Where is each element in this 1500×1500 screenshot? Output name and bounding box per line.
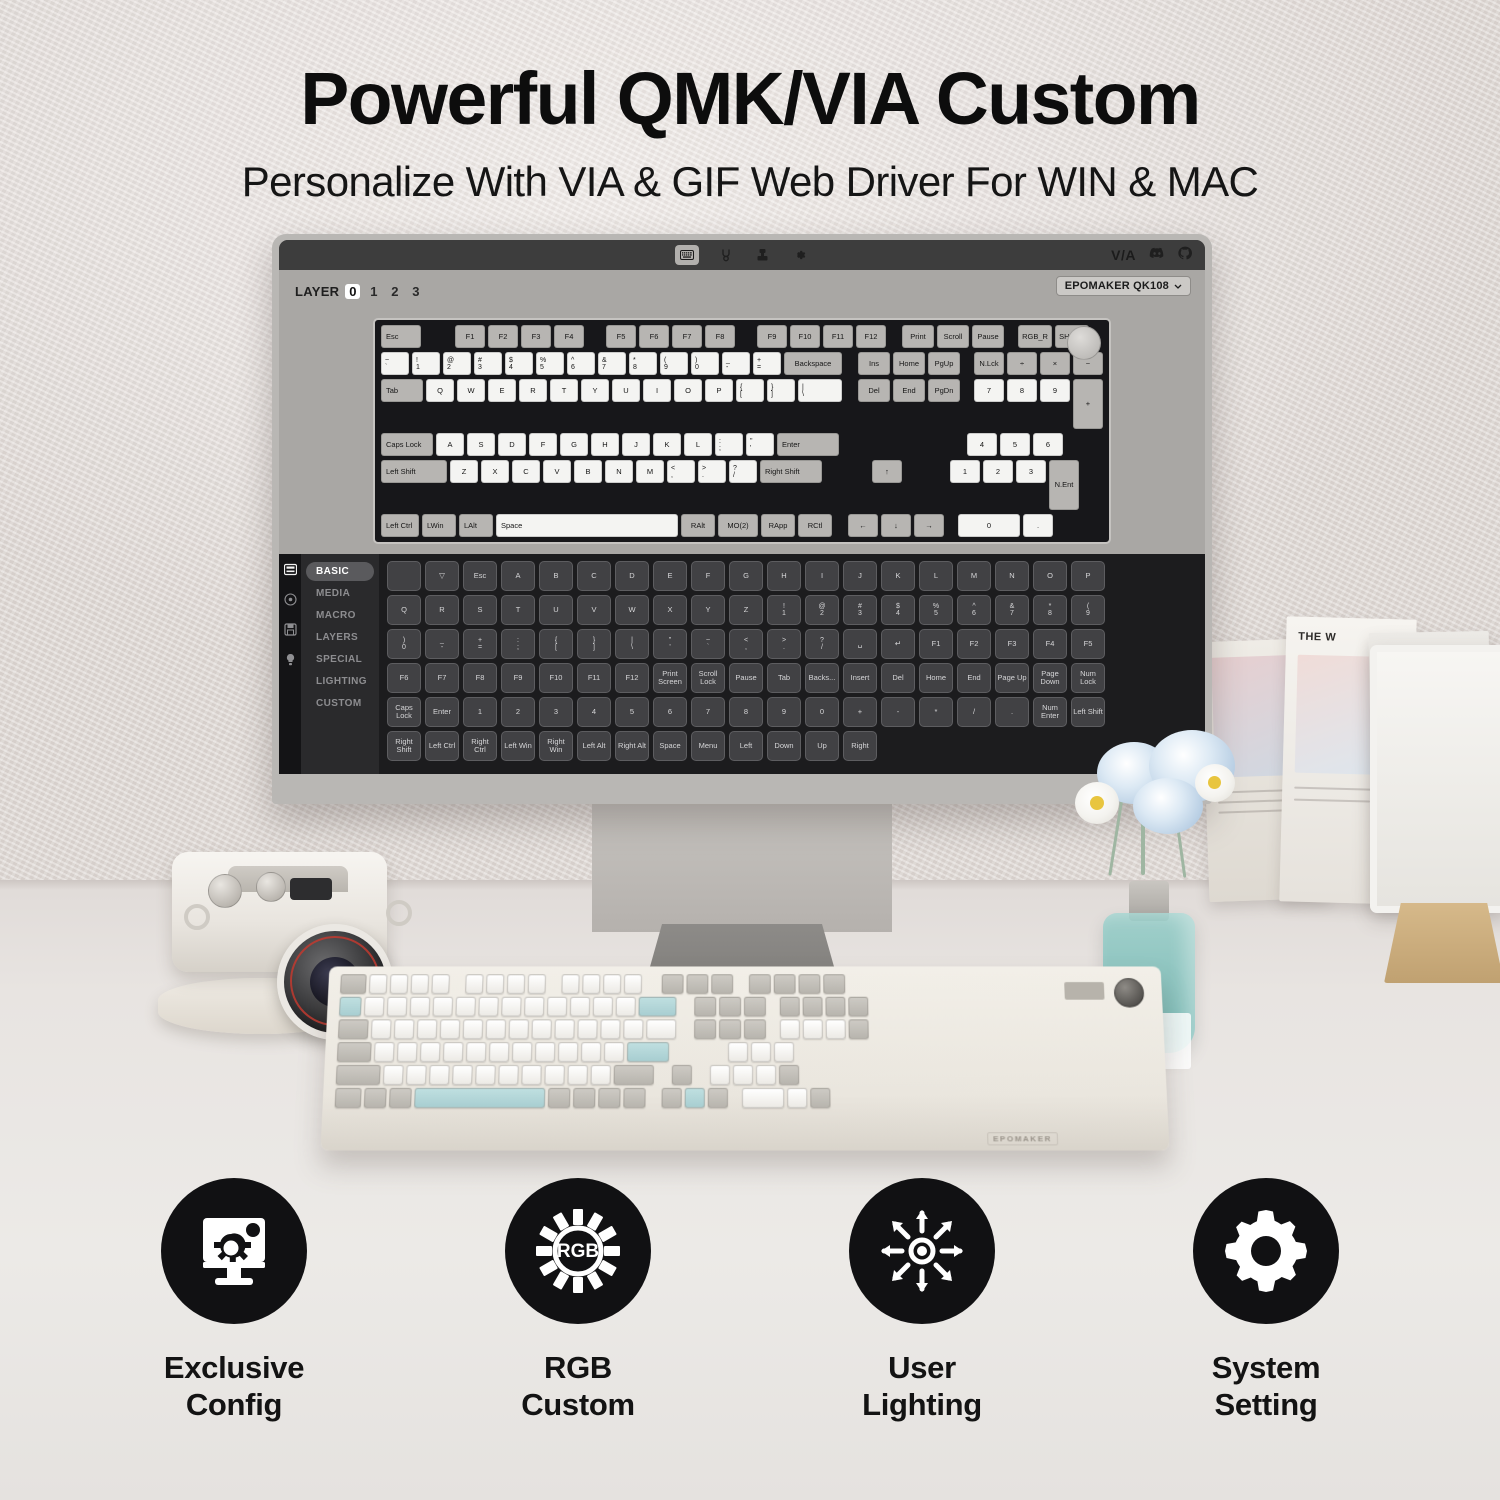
layer-chip-2[interactable]: 2 [387, 284, 402, 299]
keycap-1[interactable]: 1 [950, 460, 980, 483]
keycap-a[interactable]: A [436, 433, 464, 456]
picker-key-i[interactable]: I [805, 561, 839, 591]
keycap-2[interactable]: @2 [443, 352, 471, 375]
keycap-space[interactable]: Space [496, 514, 678, 537]
keycap-f3[interactable]: F3 [521, 325, 551, 348]
picker-key-up[interactable]: Up [805, 731, 839, 761]
keycap-n-lck[interactable]: N.Lck [974, 352, 1004, 375]
physical-keycap[interactable] [567, 1065, 587, 1085]
physical-keycap[interactable] [614, 1065, 654, 1085]
picker-key-space[interactable]: Space [653, 731, 687, 761]
picker-key-num-lock[interactable]: Num Lock [1071, 663, 1105, 693]
keycap-p[interactable]: P [705, 379, 733, 402]
physical-keycap[interactable] [414, 1088, 545, 1108]
keycap-esc[interactable]: Esc [381, 325, 421, 348]
picker-key-.[interactable]: >. [767, 629, 801, 659]
picker-key-j[interactable]: J [843, 561, 877, 591]
physical-keycap[interactable] [558, 1042, 578, 1062]
keycap-9[interactable]: 9 [1040, 379, 1070, 402]
picker-key-f1[interactable]: F1 [919, 629, 953, 659]
keycap-w[interactable]: W [457, 379, 485, 402]
keycap-6[interactable]: 6 [1033, 433, 1063, 456]
physical-keycap[interactable] [825, 997, 845, 1017]
physical-keycap[interactable] [397, 1042, 418, 1062]
physical-keycap[interactable] [466, 1042, 487, 1062]
picker-key-,[interactable]: <, [729, 629, 763, 659]
layer-chip-0[interactable]: 0 [345, 284, 360, 299]
physical-keycap[interactable] [507, 974, 525, 994]
physical-keycap[interactable] [394, 1019, 415, 1039]
physical-keycap[interactable] [694, 1019, 716, 1039]
keycap-][interactable]: }] [767, 379, 795, 402]
picker-key-9[interactable]: 9 [767, 697, 801, 727]
physical-keycap[interactable] [582, 974, 600, 994]
keycap-.[interactable]: >. [698, 460, 726, 483]
physical-keycap[interactable] [798, 974, 820, 994]
physical-keycap[interactable] [335, 1088, 362, 1108]
physical-keycap[interactable] [364, 997, 385, 1017]
picker-key-f11[interactable]: F11 [577, 663, 611, 693]
keycap-[interactable]: ↓ [881, 514, 911, 537]
picker-key-scroll-lock[interactable]: Scroll Lock [691, 663, 725, 693]
keycap-i[interactable]: I [643, 379, 671, 402]
physical-keycap[interactable] [463, 1019, 484, 1039]
physical-keycap[interactable] [577, 1019, 597, 1039]
physical-keycap[interactable] [708, 1088, 728, 1108]
picker-key-3[interactable]: #3 [843, 595, 877, 625]
picker-key-home[interactable]: Home [919, 663, 953, 693]
picker-key-9[interactable]: (9 [1071, 595, 1105, 625]
keycap-f11[interactable]: F11 [823, 325, 853, 348]
keycap-f7[interactable]: F7 [672, 325, 702, 348]
keycap-q[interactable]: Q [426, 379, 454, 402]
keycap-4[interactable]: 4 [967, 433, 997, 456]
picker-key-`[interactable]: ~` [691, 629, 725, 659]
physical-keycap[interactable] [475, 1065, 496, 1085]
picker-key-'[interactable]: "' [653, 629, 687, 659]
picker-key-f8[interactable]: F8 [463, 663, 497, 693]
keycap-f1[interactable]: F1 [455, 325, 485, 348]
physical-keycap[interactable] [486, 974, 504, 994]
keycap-rgb-r[interactable]: RGB_R [1018, 325, 1052, 348]
layer-chip-1[interactable]: 1 [366, 284, 381, 299]
lighting-icon[interactable] [753, 246, 773, 264]
physical-keycap[interactable] [433, 997, 454, 1017]
physical-keycap[interactable] [369, 974, 388, 994]
bulb-icon[interactable] [284, 653, 297, 666]
keycap-0[interactable]: 0 [958, 514, 1020, 537]
picker-key-page-down[interactable]: Page Down [1033, 663, 1067, 693]
keycap-5[interactable]: %5 [536, 352, 564, 375]
picker-key--[interactable]: _- [425, 629, 459, 659]
picker-key-blank[interactable]: . [995, 697, 1029, 727]
picker-key-3[interactable]: 3 [539, 697, 573, 727]
physical-keycap[interactable] [685, 1088, 705, 1108]
physical-keycap[interactable] [489, 1042, 510, 1062]
physical-keycap[interactable] [544, 1065, 564, 1085]
physical-keycap[interactable] [336, 1065, 381, 1085]
keycap-g[interactable]: G [560, 433, 588, 456]
picker-key-left-ctrl[interactable]: Left Ctrl [425, 731, 459, 761]
picker-key-4[interactable]: $4 [881, 595, 915, 625]
keycap-h[interactable]: H [591, 433, 619, 456]
keycap-end[interactable]: End [893, 379, 925, 402]
picker-key-right-shift[interactable]: Right Shift [387, 731, 421, 761]
picker-key-w[interactable]: W [615, 595, 649, 625]
physical-keycap[interactable] [498, 1065, 519, 1085]
sidebar-item-lighting[interactable]: LIGHTING [306, 672, 374, 691]
picker-key-=[interactable]: += [463, 629, 497, 659]
picker-key-y[interactable]: Y [691, 595, 725, 625]
physical-keycap[interactable] [742, 1088, 784, 1108]
picker-key-enter[interactable]: Enter [425, 697, 459, 727]
keycap-3[interactable]: #3 [474, 352, 502, 375]
settings-icon[interactable] [790, 246, 810, 264]
physical-keycap[interactable] [787, 1088, 807, 1108]
picker-key-blank[interactable]: * [919, 697, 953, 727]
keycap-'[interactable]: "' [746, 433, 774, 456]
keycap-t[interactable]: T [550, 379, 578, 402]
picker-key-down[interactable]: Down [767, 731, 801, 761]
picker-key-esc[interactable]: Esc [463, 561, 497, 591]
keycap-4[interactable]: $4 [505, 352, 533, 375]
physical-keycap[interactable] [338, 1019, 369, 1039]
keycap-backspace[interactable]: Backspace [784, 352, 842, 375]
keycap-v[interactable]: V [543, 460, 571, 483]
physical-keycap[interactable] [604, 1042, 624, 1062]
physical-keycap[interactable] [429, 1065, 450, 1085]
picker-key-f[interactable]: F [691, 561, 725, 591]
keycap-;[interactable]: :; [715, 433, 743, 456]
keycap-c[interactable]: C [512, 460, 540, 483]
picker-key-t[interactable]: T [501, 595, 535, 625]
keycap-f8[interactable]: F8 [705, 325, 735, 348]
picker-key-del[interactable]: Del [881, 663, 915, 693]
keycap-u[interactable]: U [612, 379, 640, 402]
picker-key-u[interactable]: U [539, 595, 573, 625]
physical-keycap[interactable] [486, 1019, 507, 1039]
physical-keycap[interactable] [646, 1019, 676, 1039]
picker-key-v[interactable]: V [577, 595, 611, 625]
picker-key-][interactable]: }] [577, 629, 611, 659]
picker-key-blank[interactable]: - [881, 697, 915, 727]
picker-key-right-alt[interactable]: Right Alt [615, 731, 649, 761]
keycap-del[interactable]: Del [858, 379, 890, 402]
github-icon[interactable] [1178, 246, 1192, 265]
keycap-left-shift[interactable]: Left Shift [381, 460, 447, 483]
physical-keycap[interactable] [337, 1042, 372, 1062]
picker-key-blank[interactable]: ▽ [425, 561, 459, 591]
physical-keycap[interactable] [600, 1019, 620, 1039]
picker-key-insert[interactable]: Insert [843, 663, 877, 693]
picker-key-/[interactable]: ?/ [805, 629, 839, 659]
picker-key-left[interactable]: Left [729, 731, 763, 761]
keycap-m[interactable]: M [636, 460, 664, 483]
physical-keycap[interactable] [420, 1042, 441, 1062]
physical-keycap[interactable] [672, 1065, 692, 1085]
physical-keycap[interactable] [623, 1019, 643, 1039]
picker-key-blank[interactable]: / [957, 697, 991, 727]
physical-keycap[interactable] [624, 974, 642, 994]
keycap--[interactable]: _- [722, 352, 750, 375]
picker-key-1[interactable]: 1 [463, 697, 497, 727]
physical-keycap[interactable] [774, 1042, 794, 1062]
picker-key-blank[interactable] [387, 561, 421, 591]
physical-keycap[interactable] [531, 1019, 551, 1039]
keycap-ins[interactable]: Ins [858, 352, 890, 375]
keycap-[interactable]: ← [848, 514, 878, 537]
keycap-d[interactable]: D [498, 433, 526, 456]
physical-keycap[interactable] [524, 997, 544, 1017]
physical-keycap[interactable] [455, 997, 476, 1017]
keycap-o[interactable]: O [674, 379, 702, 402]
picker-key-f4[interactable]: F4 [1033, 629, 1067, 659]
picker-key-backs[interactable]: Backs... [805, 663, 839, 693]
physical-keycap[interactable] [387, 997, 408, 1017]
picker-key-blank[interactable]: + [843, 697, 877, 727]
picker-key-f6[interactable]: F6 [387, 663, 421, 693]
sidebar-item-custom[interactable]: CUSTOM [306, 694, 374, 713]
physical-keycap[interactable] [417, 1019, 438, 1039]
picker-key-5[interactable]: 5 [615, 697, 649, 727]
keycap-f[interactable]: F [529, 433, 557, 456]
picker-key-right[interactable]: Right [843, 731, 877, 761]
keycap-=[interactable]: += [753, 352, 781, 375]
picker-key-right-win[interactable]: Right Win [539, 731, 573, 761]
physical-keycap[interactable] [744, 1019, 766, 1039]
keycap-caps-lock[interactable]: Caps Lock [381, 433, 433, 456]
physical-keycap[interactable] [535, 1042, 555, 1062]
picker-key-left-win[interactable]: Left Win [501, 731, 535, 761]
keycap-[interactable]: + [1073, 379, 1103, 429]
picker-key-page-up[interactable]: Page Up [995, 663, 1029, 693]
physical-keycap[interactable] [616, 997, 636, 1017]
keycap-[interactable]: ↑ [872, 460, 902, 483]
keycap-x[interactable]: X [481, 460, 509, 483]
picker-key-f2[interactable]: F2 [957, 629, 991, 659]
keycap-b[interactable]: B [574, 460, 602, 483]
layer-chip-3[interactable]: 3 [408, 284, 423, 299]
keycap-\[interactable]: |\ [798, 379, 842, 402]
picker-key-8[interactable]: *8 [1033, 595, 1067, 625]
picker-key-8[interactable]: 8 [729, 697, 763, 727]
picker-key-5[interactable]: %5 [919, 595, 953, 625]
physical-keycap[interactable] [719, 997, 741, 1017]
keycap-f6[interactable]: F6 [639, 325, 669, 348]
keycap-3[interactable]: 3 [1016, 460, 1046, 483]
physical-keycap[interactable] [662, 974, 684, 994]
physical-keycap[interactable] [478, 997, 498, 1017]
keycap-tab[interactable]: Tab [381, 379, 423, 402]
save-icon[interactable] [284, 623, 297, 636]
physical-keycap[interactable] [364, 1088, 387, 1108]
keycap-scroll[interactable]: Scroll [937, 325, 969, 348]
picker-key-f7[interactable]: F7 [425, 663, 459, 693]
physical-keycap[interactable] [779, 1065, 799, 1085]
physical-keycap[interactable] [744, 997, 766, 1017]
picker-key-end[interactable]: End [957, 663, 991, 693]
physical-keycap[interactable] [623, 1088, 645, 1108]
physical-keycap[interactable] [694, 997, 716, 1017]
layer-selector[interactable]: LAYER 0 1 2 3 [295, 284, 423, 299]
physical-keycap[interactable] [751, 1042, 771, 1062]
physical-keycap[interactable] [389, 1088, 412, 1108]
picker-key-6[interactable]: ^6 [957, 595, 991, 625]
keycap-9[interactable]: (9 [660, 352, 688, 375]
rotary-knob[interactable] [1067, 326, 1101, 360]
physical-keycap[interactable] [780, 1019, 800, 1039]
physical-keycap[interactable] [512, 1042, 533, 1062]
keycap-[interactable]: → [914, 514, 944, 537]
picker-key-\[interactable]: |\ [615, 629, 649, 659]
keycap-rctl[interactable]: RCtl [798, 514, 832, 537]
keycap-f12[interactable]: F12 [856, 325, 886, 348]
keyboard-icon[interactable] [284, 563, 297, 576]
picker-key-k[interactable]: K [881, 561, 915, 591]
keycap-pgdn[interactable]: PgDn [928, 379, 960, 402]
keycap-y[interactable]: Y [581, 379, 609, 402]
keycap-f9[interactable]: F9 [757, 325, 787, 348]
physical-keycap[interactable] [390, 974, 409, 994]
physical-keycap[interactable] [440, 1019, 461, 1039]
physical-keycap[interactable] [501, 997, 521, 1017]
sidebar-item-special[interactable]: SPECIAL [306, 650, 374, 669]
physical-keycap[interactable] [431, 974, 450, 994]
physical-keycap[interactable] [443, 1042, 464, 1062]
picker-key-pause[interactable]: Pause [729, 663, 763, 693]
keycap-k[interactable]: K [653, 433, 681, 456]
physical-keycap[interactable] [823, 974, 845, 994]
physical-keycap[interactable] [591, 1065, 611, 1085]
keycap-2[interactable]: 2 [983, 460, 1013, 483]
physical-keycap[interactable] [528, 974, 546, 994]
physical-keycap[interactable] [756, 1065, 776, 1085]
keycap-`[interactable]: ~` [381, 352, 409, 375]
physical-keycap[interactable] [554, 1019, 574, 1039]
keycap-left-ctrl[interactable]: Left Ctrl [381, 514, 419, 537]
physical-keycap[interactable] [521, 1065, 542, 1085]
physical-keycap[interactable] [749, 974, 771, 994]
picker-key-o[interactable]: O [1033, 561, 1067, 591]
physical-keycap[interactable] [719, 1019, 741, 1039]
physical-keycap[interactable] [780, 997, 800, 1017]
keycap-8[interactable]: 8 [1007, 379, 1037, 402]
picker-key-c[interactable]: C [577, 561, 611, 591]
physical-keycap[interactable] [826, 1019, 846, 1039]
keycap-home[interactable]: Home [893, 352, 925, 375]
keycap-lwin[interactable]: LWin [422, 514, 456, 537]
picker-key-d[interactable]: D [615, 561, 649, 591]
picker-key-s[interactable]: S [463, 595, 497, 625]
keycap-enter[interactable]: Enter [777, 433, 839, 456]
debug-icon[interactable] [716, 246, 736, 264]
physical-keycap[interactable] [340, 974, 367, 994]
picker-key-q[interactable]: Q [387, 595, 421, 625]
picker-key-2[interactable]: 2 [501, 697, 535, 727]
physical-keycap[interactable] [728, 1042, 748, 1062]
keycap-7[interactable]: &7 [598, 352, 626, 375]
physical-keycap[interactable] [810, 1088, 830, 1108]
picker-key-h[interactable]: H [767, 561, 801, 591]
picker-key-0[interactable]: )0 [387, 629, 421, 659]
physical-keycap[interactable] [849, 1019, 869, 1039]
picker-key-7[interactable]: &7 [995, 595, 1029, 625]
keycap-j[interactable]: J [622, 433, 650, 456]
picker-key-x[interactable]: X [653, 595, 687, 625]
keycap-f4[interactable]: F4 [554, 325, 584, 348]
picker-key-4[interactable]: 4 [577, 697, 611, 727]
keycap-l[interactable]: L [684, 433, 712, 456]
physical-keycap[interactable] [410, 997, 431, 1017]
physical-keycap[interactable] [733, 1065, 753, 1085]
picker-key-m[interactable]: M [957, 561, 991, 591]
physical-keycap[interactable] [465, 974, 483, 994]
picker-key-1[interactable]: !1 [767, 595, 801, 625]
keycap-r[interactable]: R [519, 379, 547, 402]
keycap-f10[interactable]: F10 [790, 325, 820, 348]
keycap-[interactable]: . [1023, 514, 1053, 537]
picker-key-p[interactable]: P [1071, 561, 1105, 591]
physical-keycap[interactable] [662, 1088, 682, 1108]
picker-key-caps-lock[interactable]: Caps Lock [387, 697, 421, 727]
keycap-f2[interactable]: F2 [488, 325, 518, 348]
keycap-z[interactable]: Z [450, 460, 478, 483]
keycap-s[interactable]: S [467, 433, 495, 456]
picker-key-2[interactable]: @2 [805, 595, 839, 625]
keycap-[[interactable]: {[ [736, 379, 764, 402]
picker-key-b[interactable]: B [539, 561, 573, 591]
sidebar-item-macro[interactable]: MACRO [306, 606, 374, 625]
picker-key-z[interactable]: Z [729, 595, 763, 625]
physical-keycap[interactable] [803, 1019, 823, 1039]
picker-key-blank[interactable]: ␣ [843, 629, 877, 659]
picker-key-f5[interactable]: F5 [1071, 629, 1105, 659]
physical-keycap[interactable] [627, 1042, 669, 1062]
sidebar-item-layers[interactable]: LAYERS [306, 628, 374, 647]
physical-keycap[interactable] [547, 997, 567, 1017]
keycap-n-ent[interactable]: N.Ent [1049, 460, 1079, 510]
keycap-mo-2[interactable]: MO(2) [718, 514, 758, 537]
picker-key-6[interactable]: 6 [653, 697, 687, 727]
picker-key-7[interactable]: 7 [691, 697, 725, 727]
physical-keycap[interactable] [803, 997, 823, 1017]
picker-key-g[interactable]: G [729, 561, 763, 591]
physical-keycap[interactable] [686, 974, 708, 994]
keycap-[interactable]: × [1040, 352, 1070, 375]
keycap-right-shift[interactable]: Right Shift [760, 460, 822, 483]
keycap-e[interactable]: E [488, 379, 516, 402]
sidebar-item-basic[interactable]: BASIC [306, 562, 374, 581]
keycap-0[interactable]: )0 [691, 352, 719, 375]
keycap-8[interactable]: *8 [629, 352, 657, 375]
keycap-ralt[interactable]: RAlt [681, 514, 715, 537]
picker-key-l[interactable]: L [919, 561, 953, 591]
physical-keycap[interactable] [573, 1088, 595, 1108]
picker-key-blank[interactable]: ↵ [881, 629, 915, 659]
keycap-/[interactable]: ?/ [729, 460, 757, 483]
picker-key-0[interactable]: 0 [805, 697, 839, 727]
keycap-print[interactable]: Print [902, 325, 934, 348]
record-icon[interactable] [284, 593, 297, 606]
keycap-rapp[interactable]: RApp [761, 514, 795, 537]
device-selector[interactable]: EPOMAKER QK108 [1056, 276, 1191, 296]
picker-key-tab[interactable]: Tab [767, 663, 801, 693]
picker-key-menu[interactable]: Menu [691, 731, 725, 761]
keycap-pgup[interactable]: PgUp [928, 352, 960, 375]
physical-keycap[interactable] [710, 1065, 730, 1085]
discord-icon[interactable] [1149, 246, 1165, 264]
keycap-5[interactable]: 5 [1000, 433, 1030, 456]
